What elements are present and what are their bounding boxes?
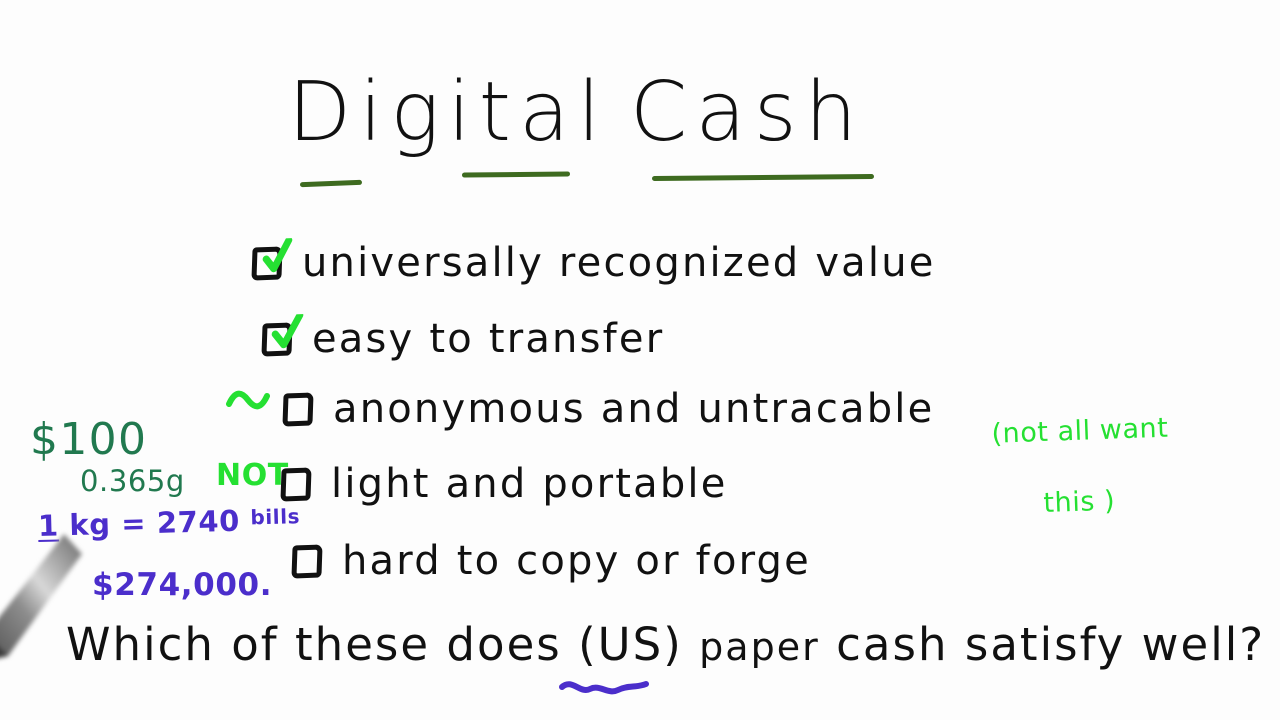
title-underline-stroke-1 bbox=[300, 180, 362, 187]
whiteboard-canvas: Digital Cash universally recognized valu… bbox=[0, 0, 1280, 720]
checklist-item-label: hard to copy or forge bbox=[342, 538, 811, 584]
checklist-item-easy-to-transfer[interactable]: easy to transfer bbox=[262, 316, 664, 362]
checklist-item-label: light and portable bbox=[331, 461, 728, 507]
checklist-item-light-and-portable[interactable]: light and portable bbox=[281, 461, 728, 507]
annotation-kg-equivalence: 1 kg = 2740 bills bbox=[38, 505, 301, 541]
checklist-item-label: easy to transfer bbox=[312, 316, 664, 362]
checklist-item-hard-to-copy-or-forge[interactable]: hard to copy or forge bbox=[292, 538, 811, 584]
annotation-kg-number: 1 bbox=[38, 508, 60, 543]
checklist-item-label: universally recognized value bbox=[302, 240, 936, 286]
checkbox-icon[interactable] bbox=[291, 544, 322, 578]
checkbox-icon[interactable] bbox=[261, 322, 292, 356]
checkmark-icon bbox=[270, 314, 305, 351]
annotation-kg-bills: bills bbox=[250, 504, 300, 529]
question-part-1: Which of these does (US) bbox=[66, 618, 683, 671]
annotation-kg-rest: kg = 2740 bbox=[58, 503, 251, 542]
checklist-item-anonymous-and-untracable[interactable]: anonymous and untracable bbox=[283, 386, 934, 432]
annotation-line-2: this ) bbox=[957, 482, 1171, 526]
tilde-icon bbox=[226, 387, 270, 415]
title-underline-stroke-2 bbox=[462, 171, 570, 177]
annotation-bill-value: $100 bbox=[30, 418, 147, 462]
page-title-word-cash: Cash bbox=[630, 72, 865, 154]
question-line: Which of these does (US) paper cash sati… bbox=[66, 622, 1265, 667]
checkbox-icon[interactable] bbox=[251, 246, 282, 280]
question-part-3: cash satisfy well? bbox=[836, 618, 1265, 671]
annotation-line-1: (not all want bbox=[991, 413, 1169, 450]
checklist-item-label: anonymous and untracable bbox=[333, 386, 934, 432]
squiggle-underline-icon bbox=[558, 676, 650, 698]
page-title-word-digital: Digital bbox=[288, 72, 609, 154]
checkbox-icon[interactable] bbox=[282, 392, 313, 426]
annotation-kg-total-value: $274,000. bbox=[92, 570, 272, 601]
question-part-2: paper bbox=[699, 625, 820, 669]
annotation-not-label: NOT bbox=[216, 461, 289, 491]
checklist-item-universally-recognized-value[interactable]: universally recognized value bbox=[252, 240, 936, 286]
title-underline-stroke-3 bbox=[652, 174, 874, 181]
annotation-not-all-want-this: (not all want this ) bbox=[953, 375, 1174, 599]
annotation-bill-weight: 0.365g bbox=[80, 467, 185, 496]
checkmark-icon bbox=[260, 238, 295, 275]
